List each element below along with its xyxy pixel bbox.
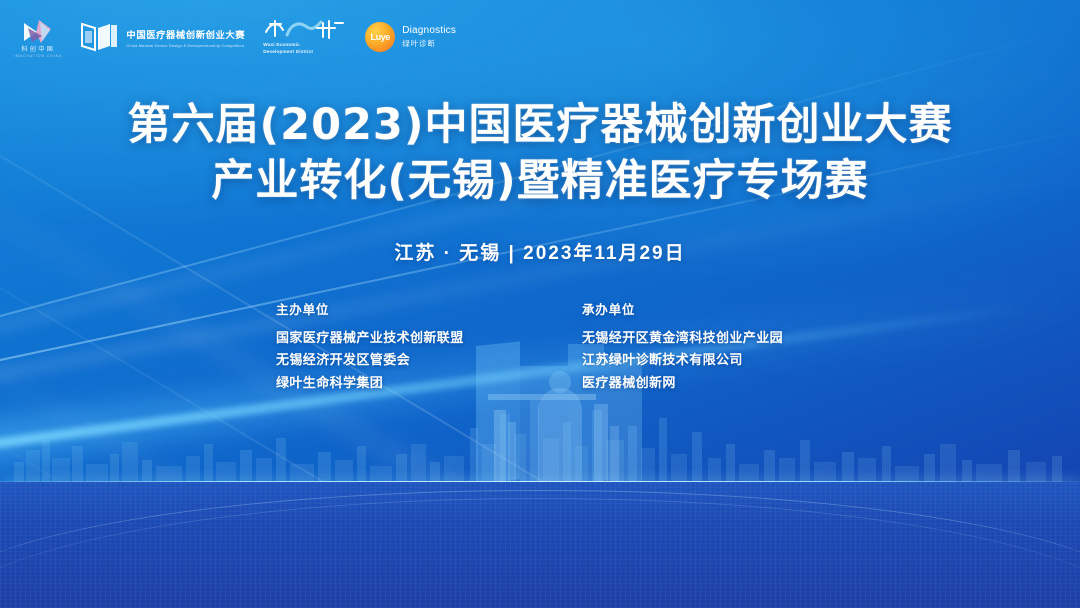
organizer-column-co-host: 承办单位 无锡经开区黄金湾科技创业产业园 江苏绿叶诊断技术有限公司 医疗器械创新… <box>582 299 804 394</box>
title-line-1: 第六届(2023)中国医疗器械创新创业大赛 <box>128 100 953 150</box>
logo-wuxi-en-line1: Wuxi Economic <box>263 42 313 49</box>
event-location-date: 江苏 · 无锡 | 2023年11月29日 <box>0 238 1080 265</box>
logo-cmdc-cn: 中国医疗器械创新创业大赛 <box>126 27 245 41</box>
organizer-item: 无锡经开区黄金湾科技创业产业园 <box>582 327 804 349</box>
event-banner: 科创中国 INNOVATION CHINA 中国医疗器械创新创业大赛 China… <box>0 0 1080 608</box>
logo-wuxi-economic-development-district: Wuxi Economic Development District <box>263 18 347 55</box>
ground-plane <box>0 482 1080 608</box>
logo-bar: 科创中国 INNOVATION CHINA 中国医疗器械创新创业大赛 China… <box>14 16 456 58</box>
luye-badge-label: Luye <box>365 22 395 52</box>
logo-kechuang-label: 科创中国 <box>21 46 55 54</box>
butterfly-ribbon-icon <box>20 16 56 46</box>
wuxi-calligraphy-icon <box>263 18 347 40</box>
organizer-item: 无锡经济开发区管委会 <box>276 349 498 371</box>
title-line-2: 产业转化(无锡)暨精准医疗专场赛 <box>0 154 1080 210</box>
organizer-section: 主办单位 国家医疗器械产业技术创新联盟 无锡经济开发区管委会 绿叶生命科学集团 … <box>0 299 1080 394</box>
logo-luye-cn: 绿叶诊断 <box>402 38 456 49</box>
logo-wuxi-en-line2: Development District <box>263 49 313 56</box>
organizer-item: 绿叶生命科学集团 <box>276 372 498 394</box>
banner-content: 第六届(2023)中国医疗器械创新创业大赛 产业转化(无锡)暨精准医疗专场赛 江… <box>0 0 1080 394</box>
organizer-heading-host: 主办单位 <box>276 299 498 318</box>
organizer-item: 医疗器械创新网 <box>582 372 804 394</box>
organizer-item: 江苏绿叶诊断技术有限公司 <box>582 349 804 371</box>
landmark-figure-silhouette <box>538 388 582 484</box>
organizer-item: 国家医疗器械产业技术创新联盟 <box>276 327 498 349</box>
organizer-heading-co-host: 承办单位 <box>582 299 804 318</box>
luye-circle-icon: Luye <box>365 22 395 52</box>
logo-cmdc-en: China Medical Device Design & Entreprene… <box>126 43 245 48</box>
organizer-column-host: 主办单位 国家医疗器械产业技术创新联盟 无锡经济开发区管委会 绿叶生命科学集团 <box>276 299 498 394</box>
logo-kechuang-en: INNOVATION CHINA <box>14 54 62 58</box>
logo-luye-diagnostics: Luye Diagnostics 绿叶诊断 <box>365 22 456 52</box>
open-book-door-icon <box>80 20 120 54</box>
logo-kechuang-zhongguo: 科创中国 INNOVATION CHINA <box>14 16 62 58</box>
logo-luye-en: Diagnostics <box>402 25 456 36</box>
logo-china-medical-device-competition: 中国医疗器械创新创业大赛 China Medical Device Design… <box>80 20 245 54</box>
page-title: 第六届(2023)中国医疗器械创新创业大赛 产业转化(无锡)暨精准医疗专场赛 <box>0 98 1080 210</box>
